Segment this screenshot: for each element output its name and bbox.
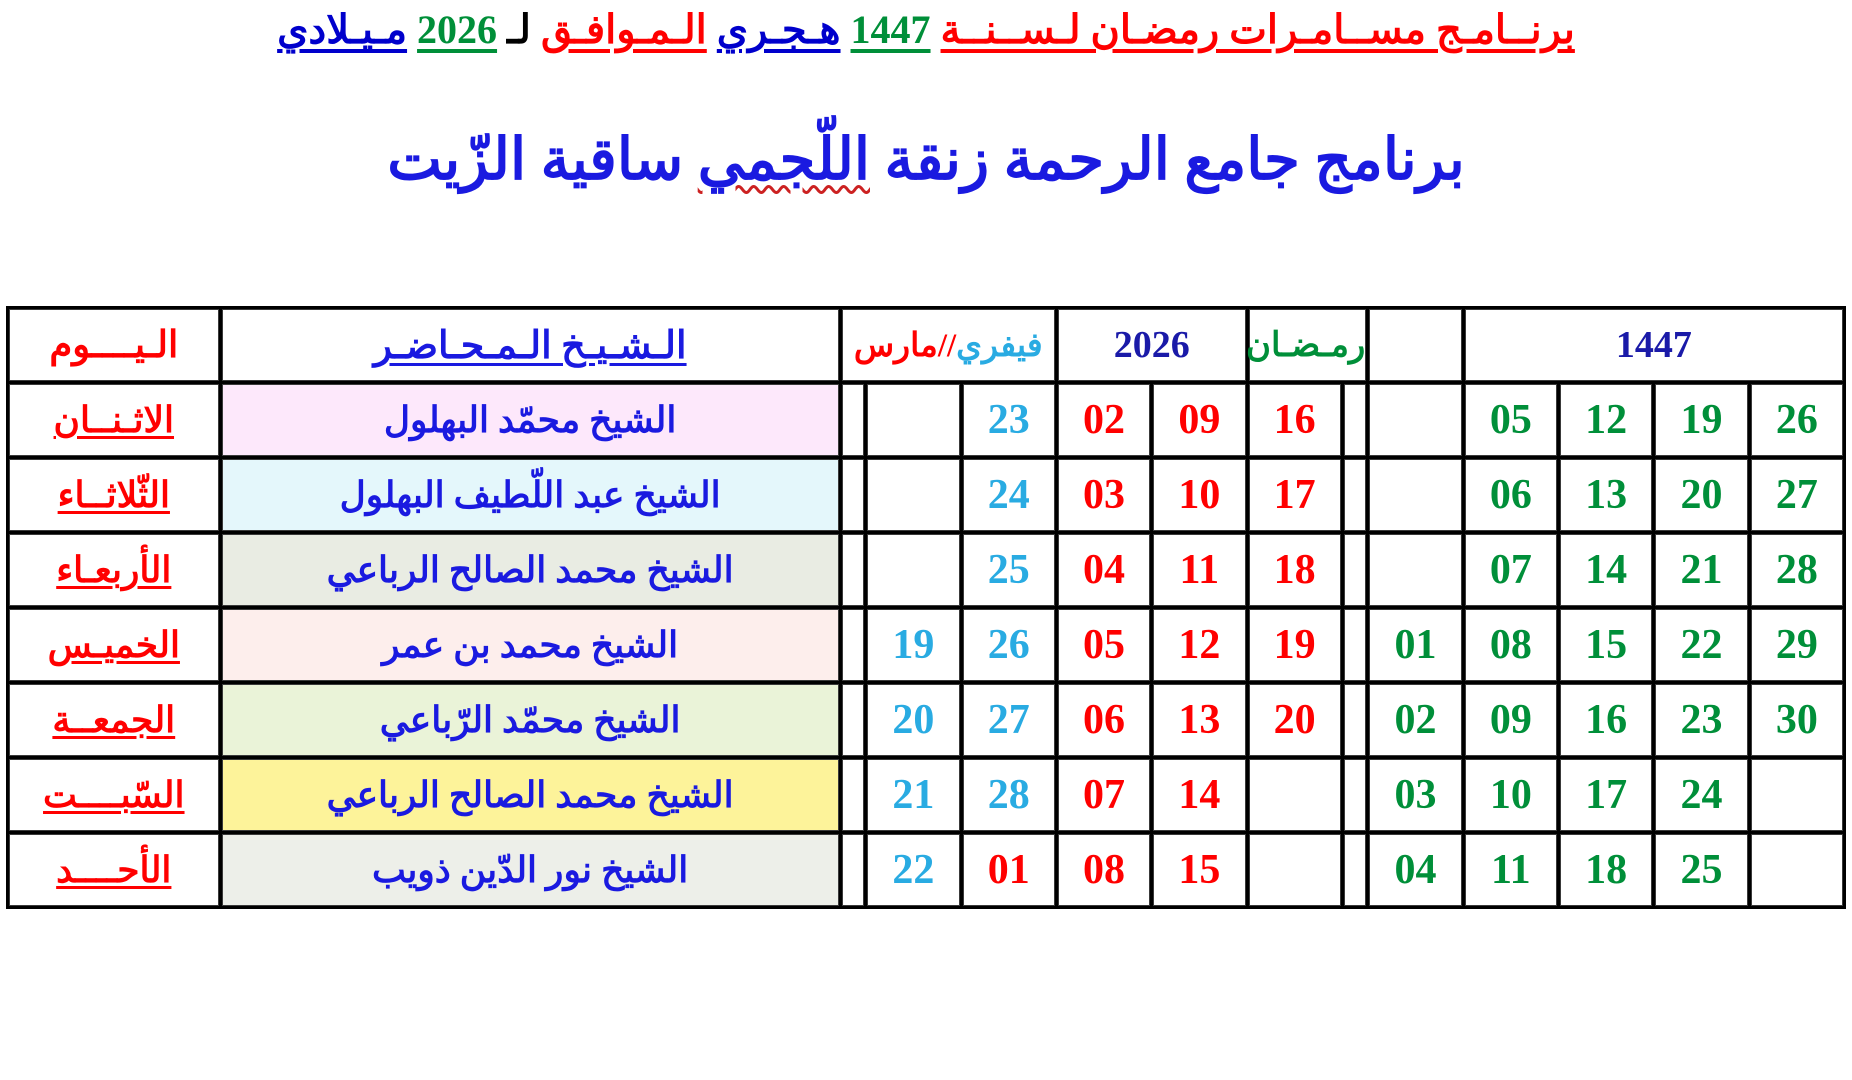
table-row: 26 19 12 05 16 09 02 23 الشيخ محمّد البه… — [9, 384, 1843, 456]
group-divider-hijri — [1344, 459, 1367, 531]
gregorian-date-empty — [867, 459, 959, 531]
day-name: الأربعـاء — [9, 534, 219, 606]
gregorian-date: 11 — [1153, 534, 1245, 606]
hijri-date: 28 — [1751, 534, 1843, 606]
hijri-date: 14 — [1560, 534, 1652, 606]
group-divider-hijri — [1344, 834, 1367, 906]
header-lecturer: الـشـيـخ الـمـحـاضـر — [222, 309, 839, 381]
gregorian-date: 01 — [963, 834, 1055, 906]
table-row: 30 23 16 09 02 20 13 06 27 20 الشيخ محمّ… — [9, 684, 1843, 756]
group-divider-hijri — [1344, 384, 1367, 456]
gregorian-date-empty — [1249, 834, 1341, 906]
day-name: الأحــــد — [9, 834, 219, 906]
lecturer-name: الشيخ محمّد الرّباعي — [222, 684, 839, 756]
gregorian-date: 07 — [1058, 759, 1150, 831]
hijri-date: 06 — [1465, 459, 1557, 531]
day-name: السّبــــت — [9, 759, 219, 831]
group-divider-gregorian — [842, 534, 865, 606]
group-divider-hijri — [1344, 684, 1367, 756]
hijri-date-empty — [1369, 459, 1461, 531]
gregorian-date: 19 — [1249, 609, 1341, 681]
hijri-date: 11 — [1465, 834, 1557, 906]
gregorian-date: 14 — [1153, 759, 1245, 831]
hijri-date-empty — [1751, 834, 1843, 906]
lecturer-name: الشيخ محمد الصالح الرباعي — [222, 759, 839, 831]
hijri-date: 05 — [1465, 384, 1557, 456]
lecturer-name: الشيخ محمّد البهلول — [222, 384, 839, 456]
hijri-date-empty — [1369, 534, 1461, 606]
lecturer-name: الشيخ محمد الصالح الرباعي — [222, 534, 839, 606]
hijri-date: 24 — [1655, 759, 1747, 831]
table-header-row: 1447 رمـضـان 2026 فيفري//مارس الـشـيـخ ا… — [9, 309, 1843, 381]
group-divider-gregorian — [842, 834, 865, 906]
hijri-date: 25 — [1655, 834, 1747, 906]
group-divider-gregorian — [842, 609, 865, 681]
group-divider-gregorian — [842, 684, 865, 756]
hijri-date: 08 — [1465, 609, 1557, 681]
banner-segment-li: لـ — [507, 7, 531, 52]
header-year-hijri: 1447 — [1465, 309, 1843, 381]
gregorian-date: 03 — [1058, 459, 1150, 531]
header-month-sep: // — [938, 328, 956, 364]
table-row: 25 18 11 04 15 08 01 22 الشيخ نور الدّين… — [9, 834, 1843, 906]
gregorian-date: 26 — [963, 609, 1055, 681]
gregorian-date: 08 — [1058, 834, 1150, 906]
hijri-date: 10 — [1465, 759, 1557, 831]
hijri-date: 09 — [1465, 684, 1557, 756]
header-day: الـيــــوم — [9, 309, 219, 381]
gregorian-date: 27 — [963, 684, 1055, 756]
page-title-prefix: برنامج جامع الرحمة زنقة — [870, 127, 1465, 192]
gregorian-date-empty — [1249, 759, 1341, 831]
gregorian-date: 02 — [1058, 384, 1150, 456]
hijri-date: 13 — [1560, 459, 1652, 531]
header-spacer-hijri — [1369, 309, 1461, 381]
group-divider-gregorian — [842, 459, 865, 531]
hijri-date: 02 — [1369, 684, 1461, 756]
table-row: 29 22 15 08 01 19 12 05 26 19 الشيخ محمد… — [9, 609, 1843, 681]
hijri-date: 17 — [1560, 759, 1652, 831]
gregorian-date: 09 — [1153, 384, 1245, 456]
gregorian-date: 24 — [963, 459, 1055, 531]
hijri-date-empty — [1751, 759, 1843, 831]
day-name: الاثـنــان — [9, 384, 219, 456]
gregorian-date: 16 — [1249, 384, 1341, 456]
hijri-date: 26 — [1751, 384, 1843, 456]
table-row: 27 20 13 06 17 10 03 24 الشيخ عبد اللّطي… — [9, 459, 1843, 531]
gregorian-date: 22 — [867, 834, 959, 906]
banner-segment-2026: 2026 — [417, 7, 497, 52]
hijri-date-empty — [1369, 384, 1461, 456]
hijri-date: 03 — [1369, 759, 1461, 831]
page-title-suffix: ساقية الزّيت — [387, 127, 697, 192]
page-title-mosque-name: اللّجمي — [698, 127, 870, 192]
header-ramadan: رمـضـان — [1249, 309, 1367, 381]
hijri-date: 30 — [1751, 684, 1843, 756]
hijri-date: 19 — [1655, 384, 1747, 456]
gregorian-date: 18 — [1249, 534, 1341, 606]
gregorian-date: 19 — [867, 609, 959, 681]
gregorian-date: 05 — [1058, 609, 1150, 681]
gregorian-date: 28 — [963, 759, 1055, 831]
page-title: برنامج جامع الرحمة زنقة اللّجمي ساقية ال… — [0, 125, 1852, 193]
day-name: الخميـس — [9, 609, 219, 681]
table-row: 24 17 10 03 14 07 28 21 الشيخ محمد الصال… — [9, 759, 1843, 831]
hijri-date: 27 — [1751, 459, 1843, 531]
header-month-feb: فيفري — [956, 328, 1042, 364]
lecturer-name: الشيخ محمد بن عمر — [222, 609, 839, 681]
hijri-date: 07 — [1465, 534, 1557, 606]
gregorian-date-empty — [867, 384, 959, 456]
header-year-gregorian: 2026 — [1058, 309, 1246, 381]
gregorian-date: 25 — [963, 534, 1055, 606]
day-name: الجمعــة — [9, 684, 219, 756]
gregorian-date: 10 — [1153, 459, 1245, 531]
gregorian-date: 20 — [867, 684, 959, 756]
group-divider-gregorian — [842, 759, 865, 831]
hijri-date: 22 — [1655, 609, 1747, 681]
banner-segment-1447: 1447 — [851, 7, 931, 52]
hijri-date: 16 — [1560, 684, 1652, 756]
hijri-date: 04 — [1369, 834, 1461, 906]
header-months: فيفري//مارس — [842, 309, 1055, 381]
gregorian-date: 21 — [867, 759, 959, 831]
banner-title: برنــامـج مســامـرات رمضـان لـســنــة 14… — [0, 0, 1852, 53]
schedule-table-wrap: 1447 رمـضـان 2026 فيفري//مارس الـشـيـخ ا… — [6, 306, 1846, 909]
hijri-date: 20 — [1655, 459, 1747, 531]
group-divider-hijri — [1344, 534, 1367, 606]
gregorian-date: 15 — [1153, 834, 1245, 906]
gregorian-date: 12 — [1153, 609, 1245, 681]
schedule-table: 1447 رمـضـان 2026 فيفري//مارس الـشـيـخ ا… — [6, 306, 1846, 909]
lecturer-name: الشيخ عبد اللّطيف البهلول — [222, 459, 839, 531]
gregorian-date: 13 — [1153, 684, 1245, 756]
group-divider-gregorian — [842, 384, 865, 456]
banner-segment-muwafiq: الـمـوافـق — [541, 7, 707, 52]
gregorian-date: 20 — [1249, 684, 1341, 756]
day-name: الثّلاثــاء — [9, 459, 219, 531]
banner-segment-program: برنــامـج مســامـرات رمضـان لـســنــة — [941, 7, 1575, 52]
group-divider-hijri — [1344, 759, 1367, 831]
banner-segment-miladi: مـيـلادي — [277, 7, 407, 52]
hijri-date: 18 — [1560, 834, 1652, 906]
hijri-date: 01 — [1369, 609, 1461, 681]
gregorian-date: 06 — [1058, 684, 1150, 756]
lecturer-name: الشيخ نور الدّين ذويب — [222, 834, 839, 906]
hijri-date: 12 — [1560, 384, 1652, 456]
group-divider-hijri — [1344, 609, 1367, 681]
hijri-date: 15 — [1560, 609, 1652, 681]
table-row: 28 21 14 07 18 11 04 25 الشيخ محمد الصال… — [9, 534, 1843, 606]
banner-segment-hijri: هـجـري — [717, 7, 841, 52]
gregorian-date: 17 — [1249, 459, 1341, 531]
gregorian-date: 04 — [1058, 534, 1150, 606]
gregorian-date: 23 — [963, 384, 1055, 456]
hijri-date: 23 — [1655, 684, 1747, 756]
hijri-date: 29 — [1751, 609, 1843, 681]
gregorian-date-empty — [867, 534, 959, 606]
hijri-date: 21 — [1655, 534, 1747, 606]
header-month-mar: مارس — [854, 328, 938, 364]
